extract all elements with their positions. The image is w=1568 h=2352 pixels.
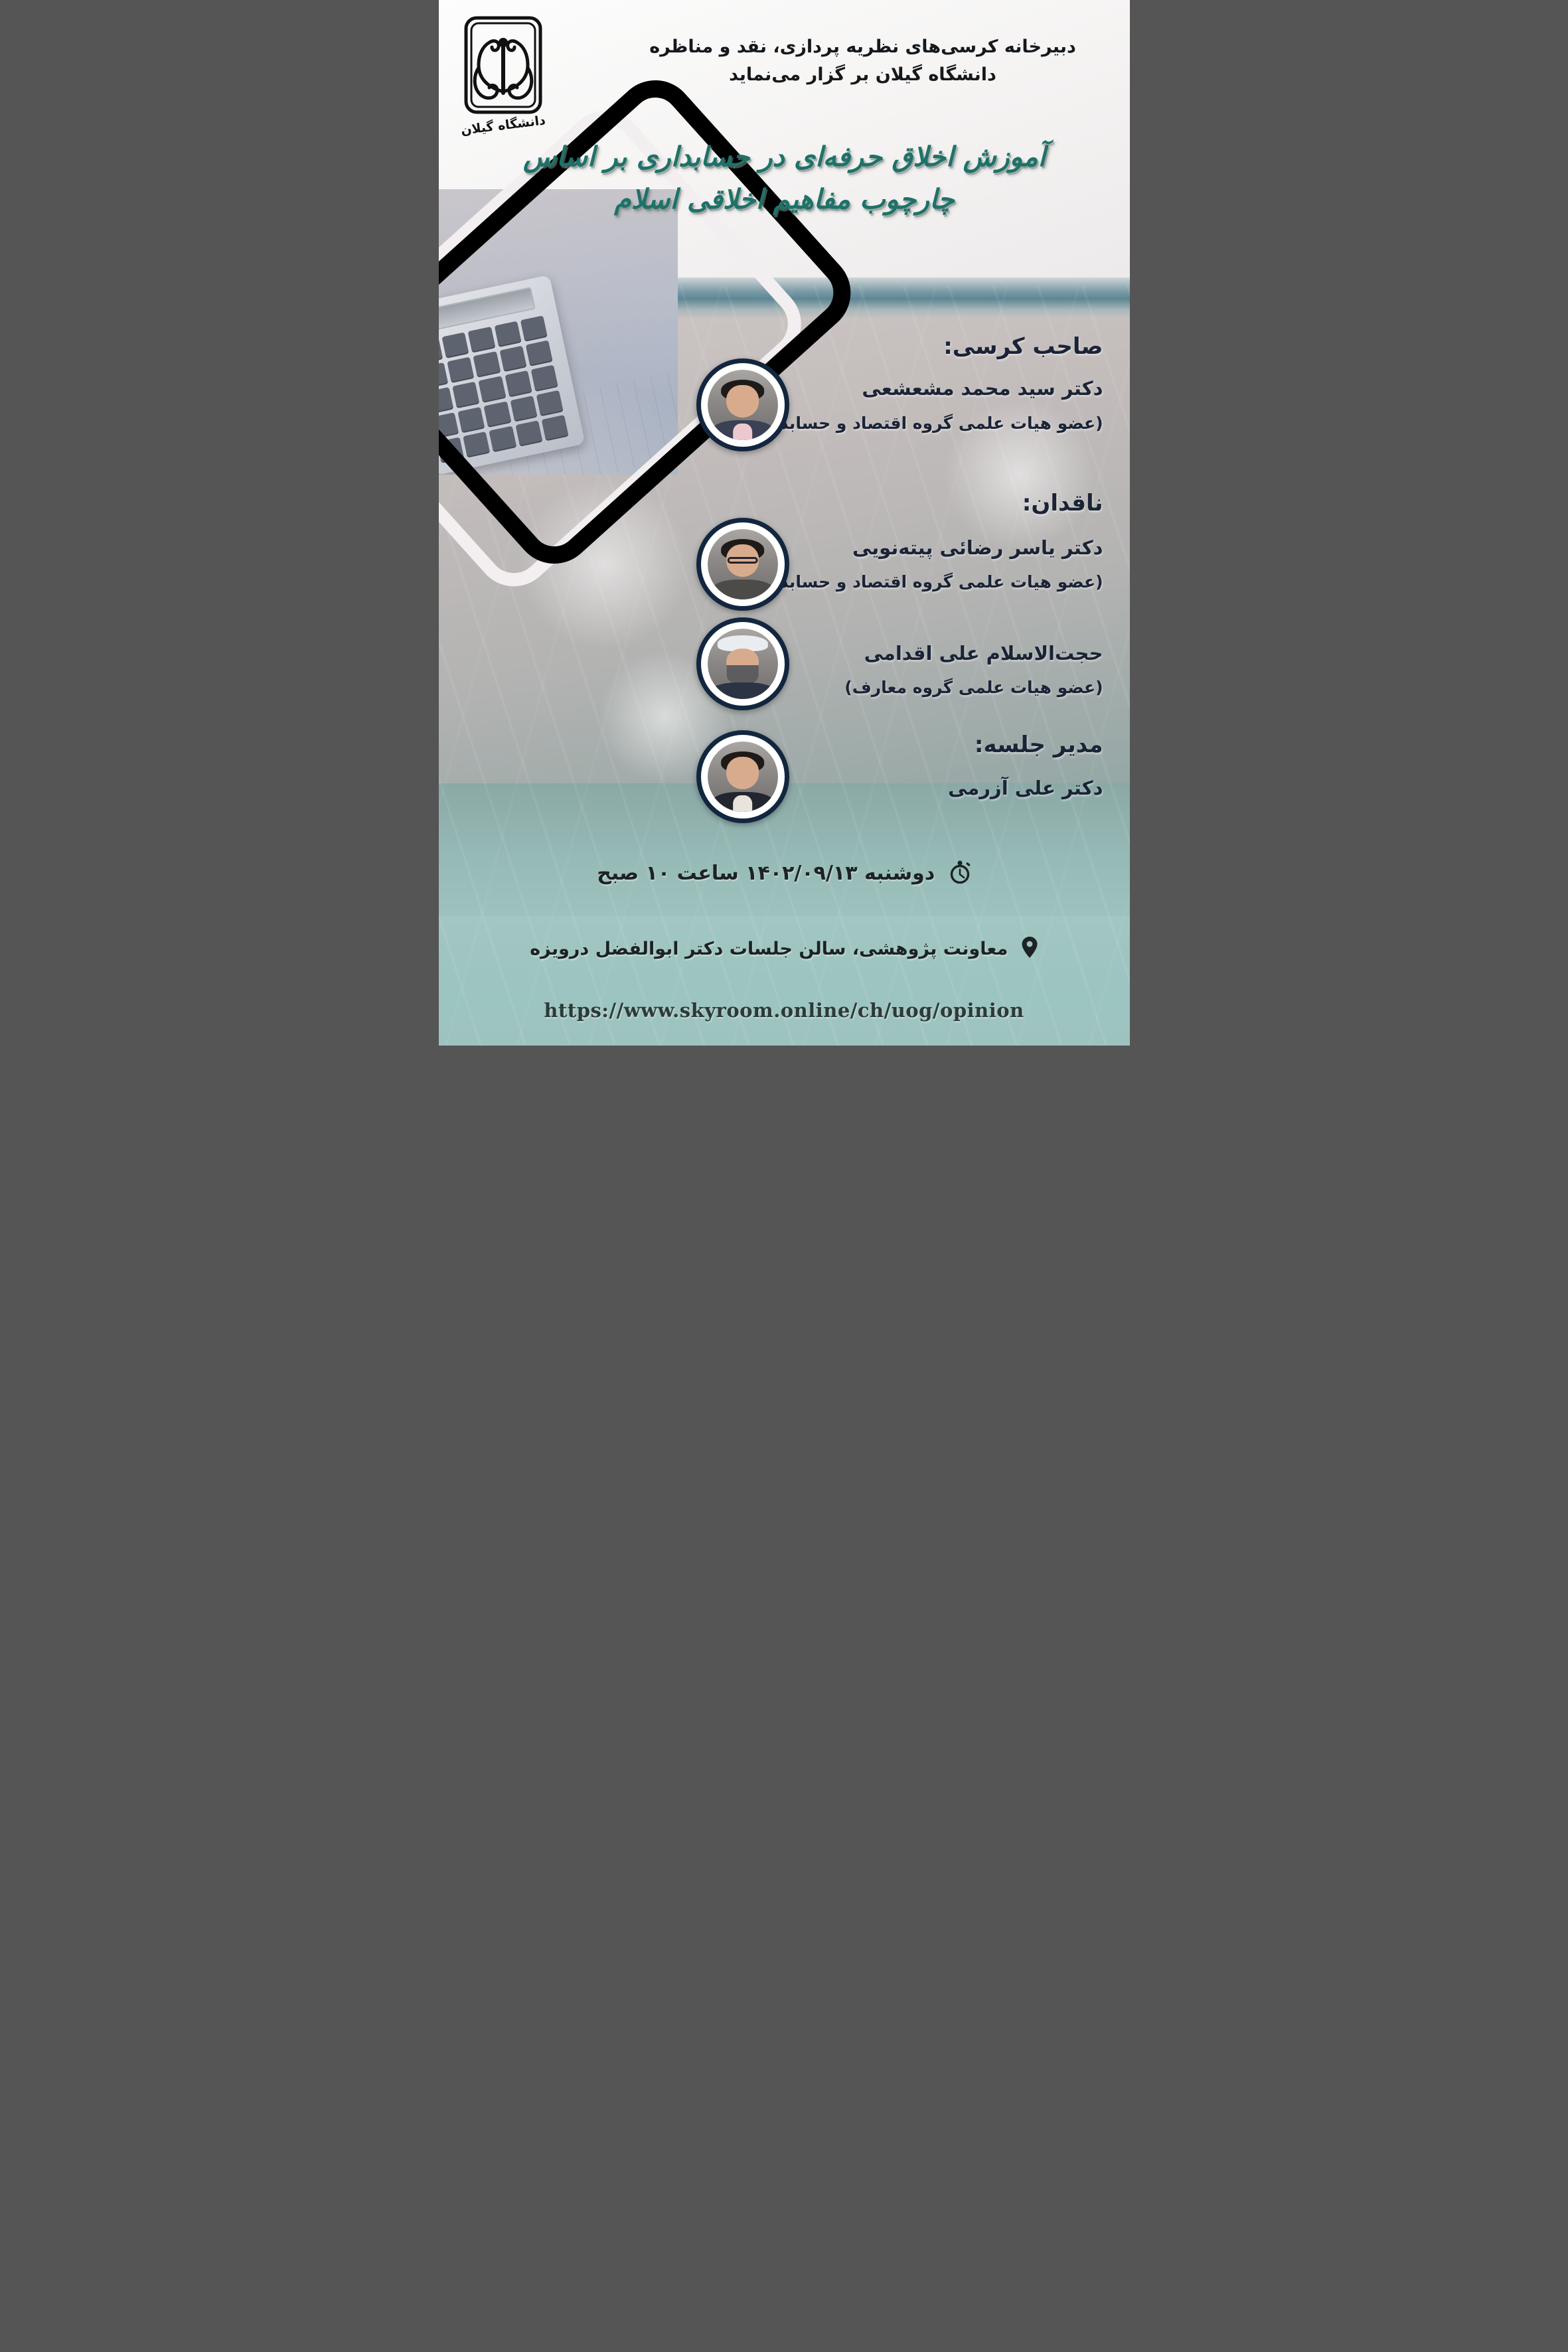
avatar-moderator	[696, 730, 789, 823]
critic-2-affiliation: (عضو هیات علمی گروه معارف)	[844, 678, 1103, 697]
header-line-1: دبیرخانه کرسی‌های نظریه پردازی، نقد و من…	[624, 33, 1102, 61]
stopwatch-icon	[949, 860, 971, 889]
critic-1-name: دکتر یاسر رضائی پیته‌نویی	[852, 536, 1103, 559]
chair-role-label: صاحب کرسی:	[943, 333, 1103, 360]
event-datetime-text: دوشنبه ۱۴۰۲/۰۹/۱۳ ساعت ۱۰ صبح	[597, 862, 935, 885]
university-logo: دانشگاه گیلان	[453, 15, 553, 133]
avatar-chair	[696, 358, 789, 451]
header-text: دبیرخانه کرسی‌های نظریه پردازی، نقد و من…	[624, 33, 1102, 89]
chair-name: دکتر سید محمد مشعشعی	[862, 377, 1103, 400]
university-of-guilan-emblem-icon	[463, 15, 544, 116]
event-location: معاونت پژوهشی، سالن جلسات دکتر ابوالفضل …	[439, 936, 1130, 963]
header-line-2: دانشگاه گیلان بر گزار می‌نماید	[624, 61, 1102, 89]
chair-affiliation: (عضو هیات علمی گروه اقتصاد و حسابداری)	[742, 414, 1103, 433]
page-title-line-1: آموزش اخلاق حرفه‌ای در حسابداری بر اساس	[459, 136, 1110, 179]
critics-role-label: ناقدان:	[1022, 490, 1103, 516]
critic-2-name: حجت‌الاسلام علی اقدامی	[864, 642, 1103, 665]
critic-1-affiliation: (عضو هیات علمی گروه اقتصاد و حسابداری)	[742, 572, 1103, 591]
event-poster: دانشگاه گیلان دبیرخانه کرسی‌های نظریه پر…	[439, 0, 1130, 1046]
avatar-critic-2	[696, 617, 789, 710]
moderator-role-label: مدیر جلسه:	[975, 732, 1103, 758]
map-pin-icon	[1021, 936, 1038, 963]
participants-section: صاحب کرسی: دکتر سید محمد مشعشعی (عضو هیا…	[439, 319, 1130, 843]
moderator-name: دکتر علی آزرمی	[948, 777, 1103, 799]
avatar-critic-1	[696, 518, 789, 611]
event-datetime: دوشنبه ۱۴۰۲/۰۹/۱۳ ساعت ۱۰ صبح	[439, 860, 1130, 889]
page-title-line-2: چارچوب مفاهیم اخلاقی اسلام	[459, 179, 1110, 221]
page-title: آموزش اخلاق حرفه‌ای در حسابداری بر اساس …	[459, 136, 1110, 220]
event-location-text: معاونت پژوهشی، سالن جلسات دکتر ابوالفضل …	[530, 939, 1008, 959]
event-link[interactable]: https://www.skyroom.online/ch/uog/opinio…	[439, 999, 1130, 1022]
